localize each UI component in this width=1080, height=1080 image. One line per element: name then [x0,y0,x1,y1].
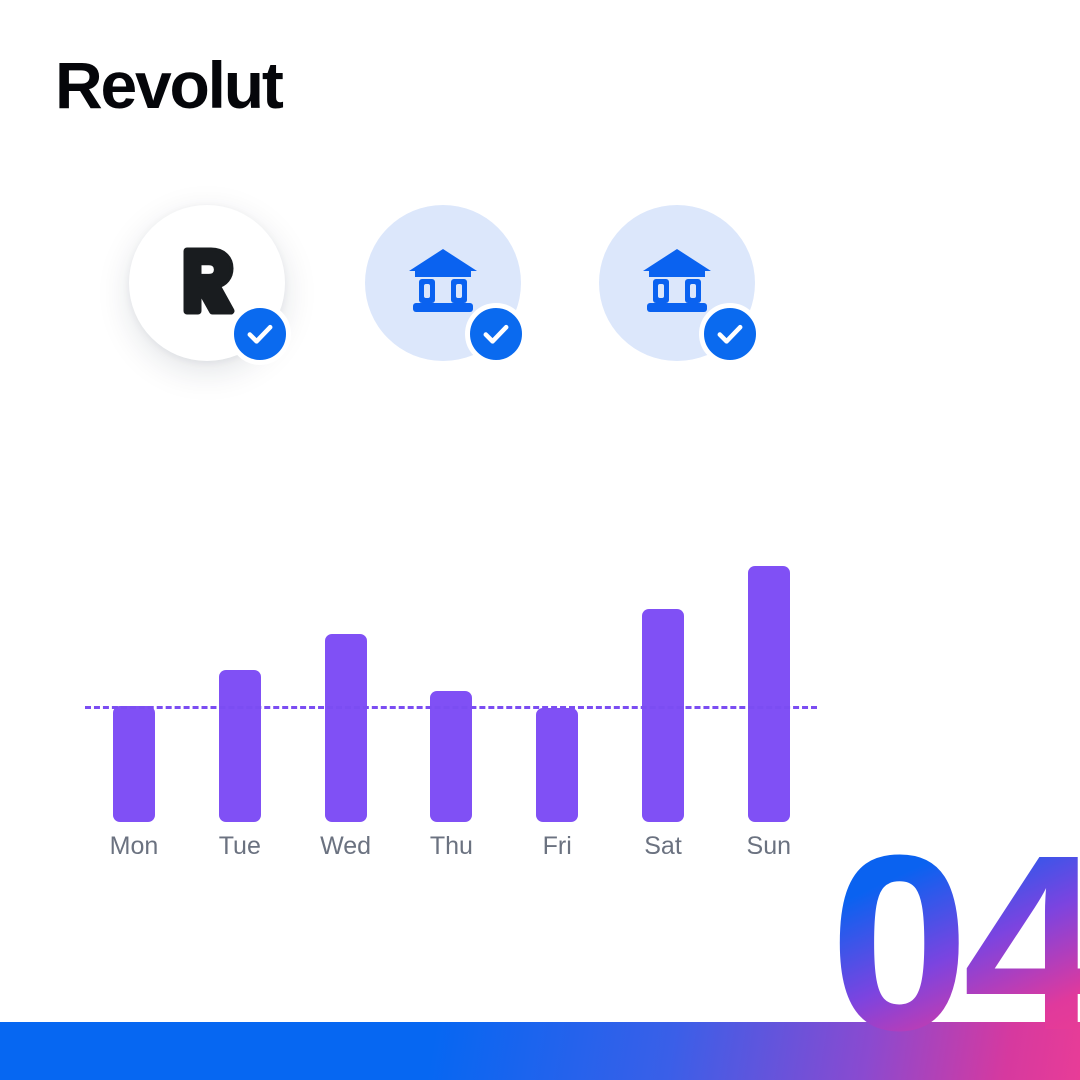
slide-canvas: Revolut [0,0,1080,1080]
chart-x-label-tue: Tue [180,832,300,861]
chart-bar[interactable] [219,670,261,822]
chart-x-label-wed: Wed [286,832,406,861]
connected-accounts-row [0,200,1080,400]
account-badge-revolut[interactable] [129,205,285,361]
chart-x-label-fri: Fri [497,832,617,861]
verified-check-icon [229,303,291,365]
bank-icon [637,241,717,326]
chart-bar[interactable] [642,609,684,822]
slide-number: 04 [830,818,1080,1068]
verified-check-icon [465,303,527,365]
revolut-wordmark-logo: Revolut [55,52,282,118]
chart-x-label-thu: Thu [391,832,511,861]
account-badge-bank-1[interactable] [365,205,521,361]
chart-average-dashed-line [85,706,817,709]
chart-bar[interactable] [113,706,155,822]
chart-x-label-sat: Sat [603,832,723,861]
chart-x-label-sun: Sun [709,832,829,861]
chart-bars [0,540,1080,822]
chart-bar[interactable] [748,566,790,822]
chart-bar[interactable] [536,708,578,822]
chart-bar[interactable] [325,634,367,822]
chart-bar[interactable] [430,691,472,822]
verified-check-icon [699,303,761,365]
account-badge-bank-2[interactable] [599,205,755,361]
bank-icon [403,241,483,326]
chart-x-label-mon: Mon [74,832,194,861]
